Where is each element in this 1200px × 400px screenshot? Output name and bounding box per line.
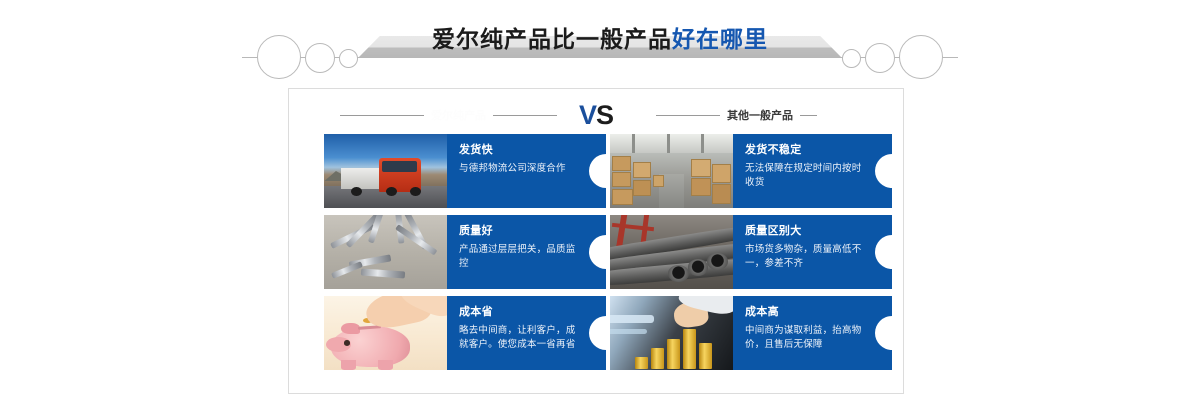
advantage-card-desc: 产品通过层层把关，品质监控: [459, 243, 580, 271]
drawback-card[interactable]: 成本高 中间商为谋取利益，抬高物价，且售后无保障: [610, 296, 892, 370]
drawback-card-desc: 中间商为谋取利益，抬高物价，且售后无保障: [745, 324, 866, 352]
card-notch-cutout: [875, 154, 892, 188]
right-side-label: 其他一般产品: [656, 107, 817, 123]
page-title-main: 爱尔纯产品比一般产品: [432, 26, 672, 52]
card-notch-cutout: [875, 235, 892, 269]
advantage-card-body: 成本省 略去中间商，让利客户，成就客户。使您成本一省再省: [447, 296, 606, 370]
drawback-card-body: 发货不稳定 无法保障在规定时间内按时收货: [733, 134, 892, 208]
versus-letter-v: V: [579, 100, 596, 130]
other-products-column: 发货不稳定 无法保障在规定时间内按时收货 质量区别大 市场货多物杂，质量高低不一…: [610, 134, 892, 377]
advantage-card-title: 成本省: [459, 305, 580, 319]
card-notch-cutout: [589, 316, 606, 350]
truck-highway-photo: [324, 134, 447, 208]
drawback-card-title: 质量区别大: [745, 224, 866, 238]
drawback-card-desc: 市场货多物杂，质量高低不一，参差不齐: [745, 243, 866, 271]
drawback-card[interactable]: 发货不稳定 无法保障在规定时间内按时收货: [610, 134, 892, 208]
advantage-card[interactable]: 质量好 产品通过层层把关，品质监控: [324, 215, 606, 289]
right-label-text: 其他一般产品: [727, 107, 793, 123]
steel-filter-elements-photo: [324, 215, 447, 289]
card-notch-cutout: [875, 316, 892, 350]
advantage-card-title: 发货快: [459, 143, 580, 157]
drawback-card-title: 成本高: [745, 305, 866, 319]
drawback-card[interactable]: 质量区别大 市场货多物杂，质量高低不一，参差不齐: [610, 215, 892, 289]
versus-bar: 爱尔纯产品 VS 其他一般产品: [288, 96, 904, 138]
our-products-column: 发货快 与德邦物流公司深度合作 质量好 产品通过层层把关，品质监控: [324, 134, 606, 377]
gold-coin-stacks-photo: [610, 296, 733, 370]
advantage-card-title: 质量好: [459, 224, 580, 238]
piggy-bank-coin-photo: [324, 296, 447, 370]
drawback-card-body: 成本高 中间商为谋取利益，抬高物价，且售后无保障: [733, 296, 892, 370]
advantage-card-desc: 略去中间商，让利客户，成就客户。使您成本一省再省: [459, 324, 580, 352]
card-notch-cutout: [589, 235, 606, 269]
page-title-accent: 好在哪里: [672, 26, 768, 52]
right-label-dash-leading: [656, 115, 720, 116]
hdpe-pipes-photo: [610, 215, 733, 289]
drawback-card-body: 质量区别大 市场货多物杂，质量高低不一，参差不齐: [733, 215, 892, 289]
advantage-card-body: 质量好 产品通过层层把关，品质监控: [447, 215, 606, 289]
drawback-card-title: 发货不稳定: [745, 143, 866, 157]
warehouse-cartons-photo: [610, 134, 733, 208]
comparison-grid: 发货快 与德邦物流公司深度合作 质量好 产品通过层层把关，品质监控: [288, 134, 904, 386]
versus-letter-s: S: [596, 100, 613, 130]
right-label-dash-trailing: [800, 115, 817, 116]
advantage-card[interactable]: 成本省 略去中间商，让利客户，成就客户。使您成本一省再省: [324, 296, 606, 370]
advantage-card[interactable]: 发货快 与德邦物流公司深度合作: [324, 134, 606, 208]
advantage-card-desc: 与德邦物流公司深度合作: [459, 162, 580, 176]
page-title: 爱尔纯产品比一般产品好在哪里: [0, 25, 1200, 53]
advantage-card-body: 发货快 与德邦物流公司深度合作: [447, 134, 606, 208]
drawback-card-desc: 无法保障在规定时间内按时收货: [745, 162, 866, 190]
card-notch-cutout: [589, 154, 606, 188]
page-header: 爱尔纯产品比一般产品好在哪里: [0, 0, 1200, 82]
